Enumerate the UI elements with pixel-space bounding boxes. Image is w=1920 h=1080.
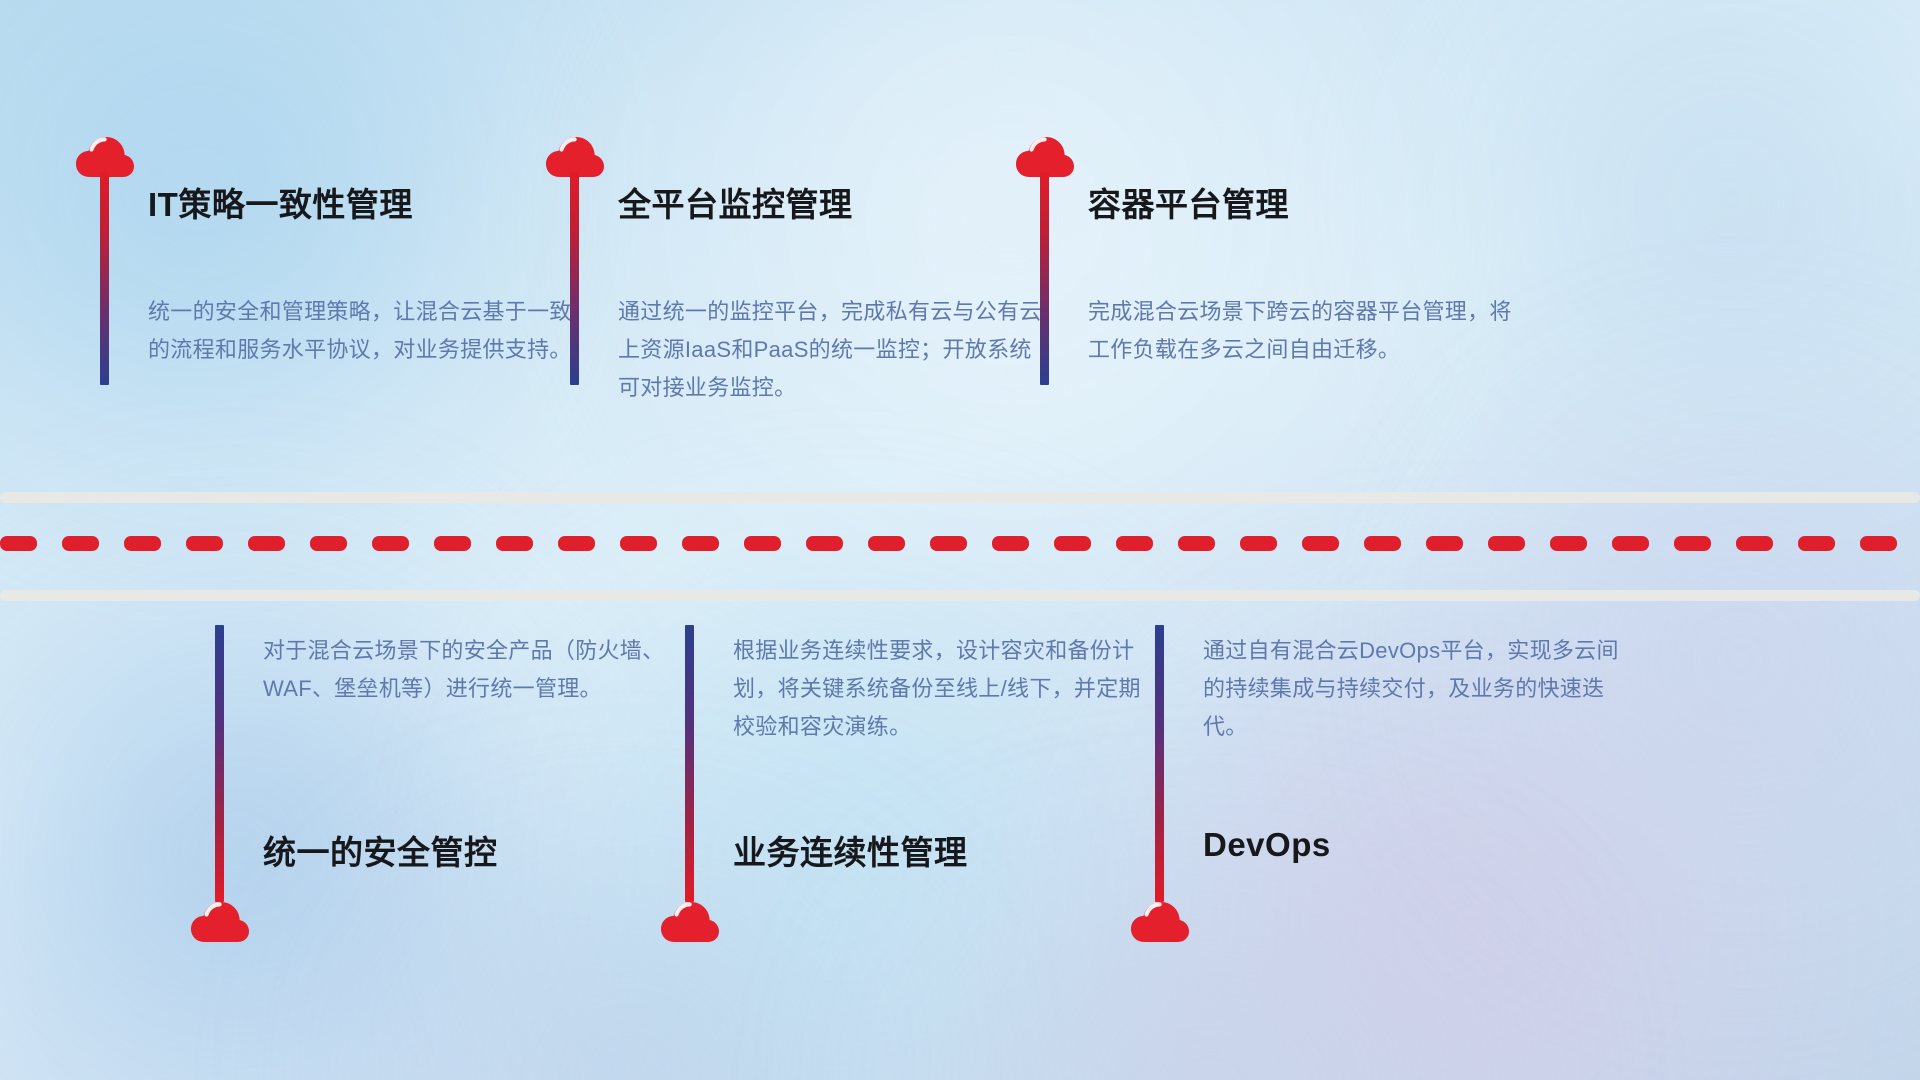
road-dashed-center-line [0,536,1920,551]
connector-bar [1155,625,1164,902]
road-dash [992,536,1029,551]
road-dash [1674,536,1711,551]
road-dash [124,536,161,551]
cloud-icon [660,895,720,947]
road-dash [1488,536,1525,551]
road-dash [744,536,781,551]
road-dash [1860,536,1897,551]
top-item-body: 完成混合云场景下跨云的容器平台管理，将工作负载在多云之间自由迁移。 [1088,293,1518,369]
top-item-body: 统一的安全和管理策略，让混合云基于一致的流程和服务水平协议，对业务提供支持。 [148,293,578,369]
road-dash [806,536,843,551]
road-dash [1736,536,1773,551]
road-dash [62,536,99,551]
bottom-item-body: 对于混合云场景下的安全产品（防火墙、WAF、堡垒机等）进行统一管理。 [263,632,693,708]
top-item-title: 容器平台管理 [1088,178,1289,226]
road-dash [310,536,347,551]
bottom-item-body: 通过自有混合云DevOps平台，实现多云间的持续集成与持续交付，及业务的快速迭代… [1203,632,1633,746]
connector-bar [685,625,694,902]
bottom-item-title: 统一的安全管控 [263,826,498,874]
cloud-icon [190,895,250,947]
bottom-item-title: 业务连续性管理 [733,826,968,874]
road-dash [620,536,657,551]
connector-bar [215,625,224,902]
road-dash [1426,536,1463,551]
road-edge-line-bottom [0,590,1920,601]
road-edge-line-top [0,492,1920,503]
road-dash [434,536,471,551]
road-dash [1612,536,1649,551]
road-dash [868,536,905,551]
road-dash [1364,536,1401,551]
road-dash [930,536,967,551]
infographic-canvas: IT策略一致性管理 统一的安全和管理策略，让混合云基于一致的流程和服务水平协议，… [0,0,1920,1080]
road-dash [186,536,223,551]
road-dash [372,536,409,551]
top-item-title: 全平台监控管理 [618,178,853,226]
road-dash [496,536,533,551]
road-dash [1116,536,1153,551]
road-dash [1798,536,1835,551]
road-dash [558,536,595,551]
road-dash [682,536,719,551]
top-item-body: 通过统一的监控平台，完成私有云与公有云上资源IaaS和PaaS的统一监控；开放系… [618,293,1048,407]
bottom-item-title: DevOps [1203,826,1331,864]
connector-bar [1040,172,1049,385]
connector-bar [570,172,579,385]
road-dash [1302,536,1339,551]
road-dash [0,536,37,551]
cloud-icon [1130,895,1190,947]
road-dash [1178,536,1215,551]
road-dash [1550,536,1587,551]
road-dash [1240,536,1277,551]
top-item-title: IT策略一致性管理 [148,178,413,226]
bottom-item-body: 根据业务连续性要求，设计容灾和备份计划，将关键系统备份至线上/线下，并定期校验和… [733,632,1163,746]
road-dash [1054,536,1091,551]
road-dash [248,536,285,551]
connector-bar [100,172,109,385]
